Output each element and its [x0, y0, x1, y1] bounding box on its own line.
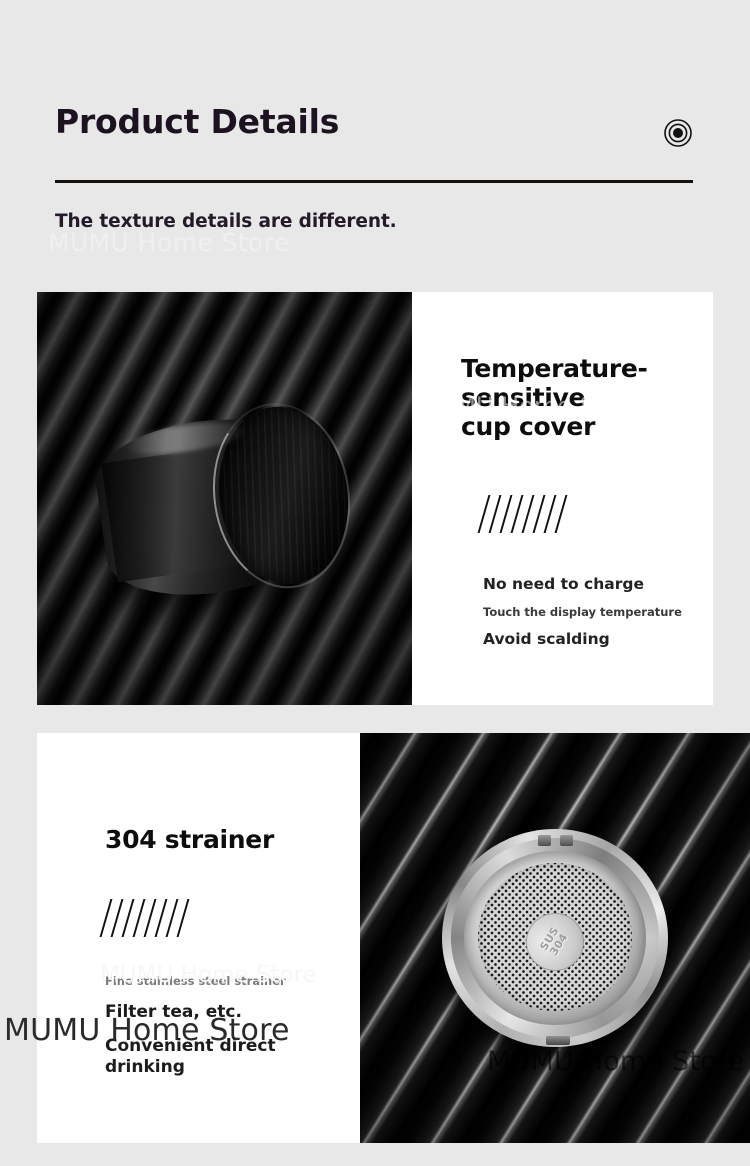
- card-heading: 304 strainer: [105, 825, 360, 854]
- feature-item: Filter tea, etc.: [105, 1002, 360, 1022]
- slash-mark: [100, 899, 113, 937]
- photo-vignette: [37, 292, 412, 705]
- card-heading-line-1: Temperature-sensitive: [461, 354, 648, 412]
- slash-mark: [555, 495, 568, 533]
- strainer-info-panel: 304 strainer Fine stainless steel strain…: [37, 733, 360, 1143]
- slash-mark: [500, 495, 513, 533]
- detail-card-cup-cover: Temperature-sensitive cup cover No need …: [37, 292, 713, 705]
- slash-mark: [155, 899, 168, 937]
- feature-item: No need to charge: [483, 575, 713, 594]
- slash-mark: [522, 495, 535, 533]
- target-circle-icon[interactable]: [663, 118, 693, 148]
- feature-item: Avoid scalding: [483, 630, 713, 649]
- product-details-page: Product Details MUMU Home Store The text…: [0, 0, 750, 1166]
- strainer-feature-list: Fine stainless steel strainer Filter tea…: [105, 975, 360, 1077]
- photo-vignette: [360, 733, 750, 1143]
- detail-card-strainer: 304 strainer Fine stainless steel strain…: [37, 733, 750, 1143]
- slash-mark: [511, 495, 524, 533]
- feature-item: Touch the display temperature: [483, 606, 713, 620]
- cup-cover-photo: [37, 292, 412, 705]
- slash-mark: [177, 899, 190, 937]
- feature-item: Convenient direct drinking: [105, 1036, 360, 1077]
- header-divider: [55, 180, 693, 183]
- cup-cover-info-panel: Temperature-sensitive cup cover No need …: [412, 292, 713, 705]
- cup-cover-feature-list: No need to charge Touch the display temp…: [483, 575, 713, 649]
- slash-divider: [483, 495, 713, 533]
- page-title: Product Details: [55, 104, 693, 140]
- slash-mark: [122, 899, 135, 937]
- watermark-subtitle: MUMU Home Store: [48, 228, 290, 257]
- feature-item: Fine stainless steel strainer: [105, 975, 360, 989]
- section-subtitle: The texture details are different.: [55, 211, 397, 232]
- slash-mark: [166, 899, 179, 937]
- card-heading: Temperature-sensitive cup cover: [461, 354, 713, 441]
- slash-mark: [533, 495, 546, 533]
- slash-mark: [144, 899, 157, 937]
- card-heading-line-2: cup cover: [461, 412, 595, 441]
- slash-mark: [111, 899, 124, 937]
- slash-mark: [489, 495, 502, 533]
- slash-mark: [478, 495, 491, 533]
- slash-mark: [544, 495, 557, 533]
- slash-divider: [105, 899, 360, 937]
- page-header: Product Details: [55, 104, 693, 182]
- strainer-photo: SUS 304: [360, 733, 750, 1143]
- slash-mark: [133, 899, 146, 937]
